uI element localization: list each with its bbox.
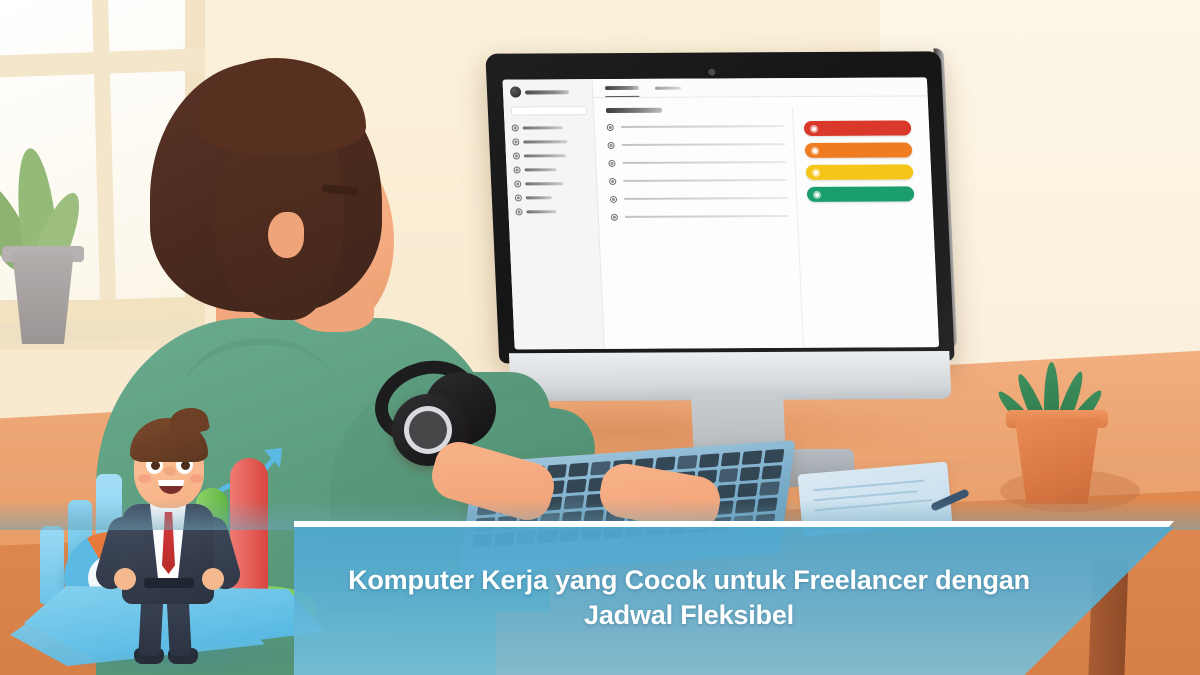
tab-bar xyxy=(593,77,928,98)
keyboard-key xyxy=(699,453,720,467)
circle-icon xyxy=(609,178,616,185)
tab-label xyxy=(605,86,639,90)
sidebar-item-label xyxy=(526,196,552,200)
search-input[interactable] xyxy=(511,106,587,115)
pill-button-yellow[interactable] xyxy=(806,164,914,180)
list-item[interactable] xyxy=(611,213,789,221)
sidebar-item-2[interactable] xyxy=(512,138,588,145)
mascot-cheek xyxy=(138,474,151,483)
mascot-pupil xyxy=(181,461,190,470)
app-brand-label xyxy=(525,90,569,94)
list-item-text xyxy=(624,197,788,200)
sidebar-item-label xyxy=(525,182,563,186)
circle-icon xyxy=(513,166,520,173)
mascot-belt xyxy=(144,578,194,588)
keyboard-key xyxy=(677,455,698,469)
keyboard-key xyxy=(720,452,741,466)
circle-icon xyxy=(611,214,618,221)
sidebar-item-1[interactable] xyxy=(512,124,588,131)
right-plant-pot xyxy=(1012,418,1102,504)
keyboard-key xyxy=(740,467,761,481)
page-title-line1: Komputer Kerja yang Cocok untuk Freelanc… xyxy=(348,565,1030,595)
notebook-line xyxy=(813,480,925,492)
app-logo-icon xyxy=(510,87,522,98)
sidebar-item-label xyxy=(525,168,557,172)
content-list xyxy=(607,123,790,221)
pill-button-orange[interactable] xyxy=(805,142,913,158)
mascot-pupil xyxy=(151,461,160,470)
list-item-text xyxy=(622,161,786,164)
list-item[interactable] xyxy=(609,177,787,185)
list-item[interactable] xyxy=(608,159,786,167)
keyboard-key xyxy=(764,449,785,463)
list-item-text xyxy=(622,143,786,146)
content-list-column xyxy=(606,107,795,349)
list-item-text xyxy=(623,179,787,182)
list-item-text xyxy=(621,125,785,128)
headphones-pad-center xyxy=(409,411,447,449)
sidebar-item-3[interactable] xyxy=(513,152,589,159)
sidebar-item-6[interactable] xyxy=(515,194,591,201)
circle-icon xyxy=(515,194,522,201)
tab-secondary[interactable] xyxy=(655,83,682,97)
webcam-icon xyxy=(708,69,715,76)
sidebar-item-label xyxy=(523,140,567,144)
app-window xyxy=(502,77,939,349)
page-title: Komputer Kerja yang Cocok untuk Freelanc… xyxy=(339,563,1039,633)
keyboard-key xyxy=(759,481,780,495)
mascot-hand xyxy=(114,568,136,590)
tab-label xyxy=(655,86,681,90)
tab-active[interactable] xyxy=(605,83,640,97)
sidebar-item-4[interactable] xyxy=(513,166,589,173)
circle-icon xyxy=(813,190,821,198)
sidebar-item-label xyxy=(523,126,563,130)
sidebar-item-5[interactable] xyxy=(514,180,590,187)
app-main xyxy=(593,77,940,348)
sidebar-item-label xyxy=(524,154,566,158)
circle-icon xyxy=(515,208,522,215)
mascot-cheek xyxy=(190,474,203,483)
banner-top-rule xyxy=(294,521,1174,527)
mascot-hair-quiff xyxy=(168,404,211,437)
mascot-nose xyxy=(164,466,176,476)
circle-icon xyxy=(514,180,521,187)
page-title-line2: Jadwal Fleksibel xyxy=(584,600,794,630)
pill-button-green[interactable] xyxy=(807,186,915,202)
list-item[interactable] xyxy=(610,195,788,203)
mascot-teeth xyxy=(158,480,184,486)
sidebar-item-label xyxy=(526,210,556,214)
title-banner: Komputer Kerja yang Cocok untuk Freelanc… xyxy=(294,527,1174,675)
circle-icon xyxy=(812,168,820,176)
mascot-infographic-group xyxy=(10,400,340,675)
list-item[interactable] xyxy=(607,123,785,131)
pill-button-red[interactable] xyxy=(804,120,912,136)
app-content xyxy=(593,96,939,348)
section-heading xyxy=(606,108,662,113)
action-panel xyxy=(792,106,929,347)
illustration-canvas: Komputer Kerja yang Cocok untuk Freelanc… xyxy=(0,0,1200,675)
circle-icon xyxy=(607,124,614,131)
app-sidebar xyxy=(502,79,604,349)
circle-icon xyxy=(608,160,615,167)
monitor-screen xyxy=(502,77,939,349)
app-brand xyxy=(510,86,587,97)
list-item[interactable] xyxy=(607,141,785,149)
keyboard-key xyxy=(742,450,763,464)
sidebar-nav xyxy=(512,124,592,215)
keyboard-key xyxy=(762,465,783,479)
person-ear xyxy=(268,212,304,258)
keyboard-key xyxy=(718,468,739,482)
keyboard-key xyxy=(568,463,589,477)
circle-icon xyxy=(512,124,519,131)
circle-icon xyxy=(607,142,614,149)
list-item-text xyxy=(625,215,789,218)
circle-icon xyxy=(810,124,818,132)
keyboard-key xyxy=(566,479,587,493)
keyboard-key xyxy=(738,483,759,497)
cylinder-red xyxy=(230,458,268,610)
circle-icon xyxy=(811,146,819,154)
sidebar-item-7[interactable] xyxy=(515,208,591,215)
circle-icon xyxy=(513,152,520,159)
circle-icon xyxy=(512,138,519,145)
mascot-hand xyxy=(202,568,224,590)
circle-icon xyxy=(610,196,617,203)
